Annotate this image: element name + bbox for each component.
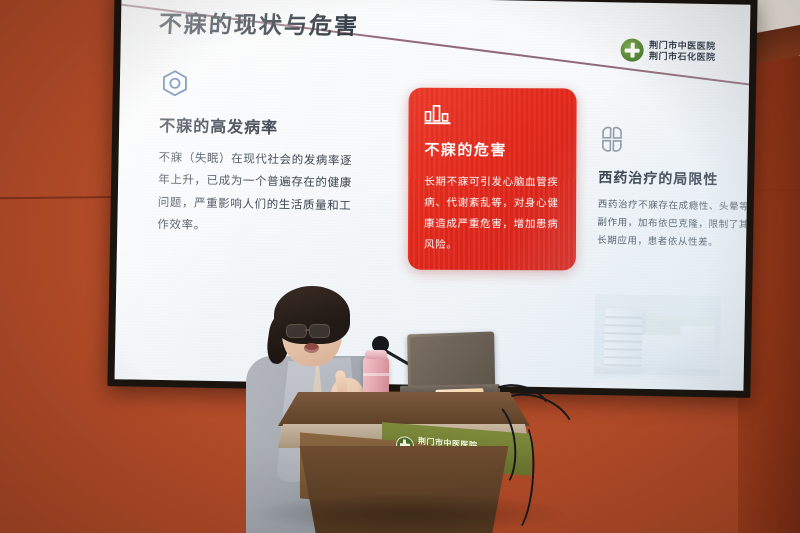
four-petal-clover-icon	[599, 126, 630, 157]
left-column-heading: 不寐的高发病率	[159, 112, 359, 140]
slide-title: 不寐的现状与危害	[158, 5, 360, 41]
right-column-body: 西药治疗不寐存在成瘾性、头晕等副作用，加布依巴克隆，限制了其长期应用，患者依从性…	[597, 196, 751, 253]
right-column-heading: 西药治疗的局限性	[598, 167, 750, 190]
speaker-mouth	[304, 343, 319, 353]
eyeglasses-left-lens	[286, 324, 307, 338]
harm-card-heading: 不寐的危害	[424, 139, 560, 161]
laptop-lid	[407, 331, 495, 389]
hospital-building-photo	[594, 294, 722, 380]
slide-right-column: 西药治疗的局限性 西药治疗不寐存在成瘾性、头晕等副作用，加布依巴克隆，限制了其长…	[597, 126, 751, 253]
floor-shadow	[250, 493, 570, 533]
hospital-logo-line2: 荆门市石化医院	[649, 50, 716, 62]
slide-left-column: 不寐的高发病率 不寐（失眠）在现代社会的发病率逐年上升，已成为一个普遍存在的健康…	[157, 68, 360, 240]
hospital-logo-text: 荆门市中医医院 荆门市石化医院	[649, 40, 716, 62]
hexagon-outline-icon	[160, 68, 191, 99]
eyeglasses-bridge	[305, 329, 310, 331]
laptop[interactable]	[400, 333, 496, 395]
harm-card-body: 长期不寐可引发心脑血管疾病、代谢紊乱等，对身心健康造成严重危害，增加患病风险。	[424, 172, 560, 257]
bar-chart-icon	[424, 104, 451, 125]
hospital-logo: 荆门市中医医院 荆门市石化医院	[621, 38, 716, 63]
green-cross-circle-icon	[621, 38, 644, 61]
left-column-body: 不寐（失眠）在现代社会的发病率逐年上升，已成为一个普遍存在的健康问题，严重影响人…	[157, 147, 359, 240]
screenshot-root: 不寐的现状与危害 荆门市中医医院 荆门市石化医院	[0, 0, 800, 533]
harm-card: 不寐的危害 长期不寐可引发心脑血管疾病、代谢紊乱等，对身心健康造成严重危害，增加…	[408, 88, 577, 271]
eyeglasses-right-lens	[309, 324, 330, 338]
